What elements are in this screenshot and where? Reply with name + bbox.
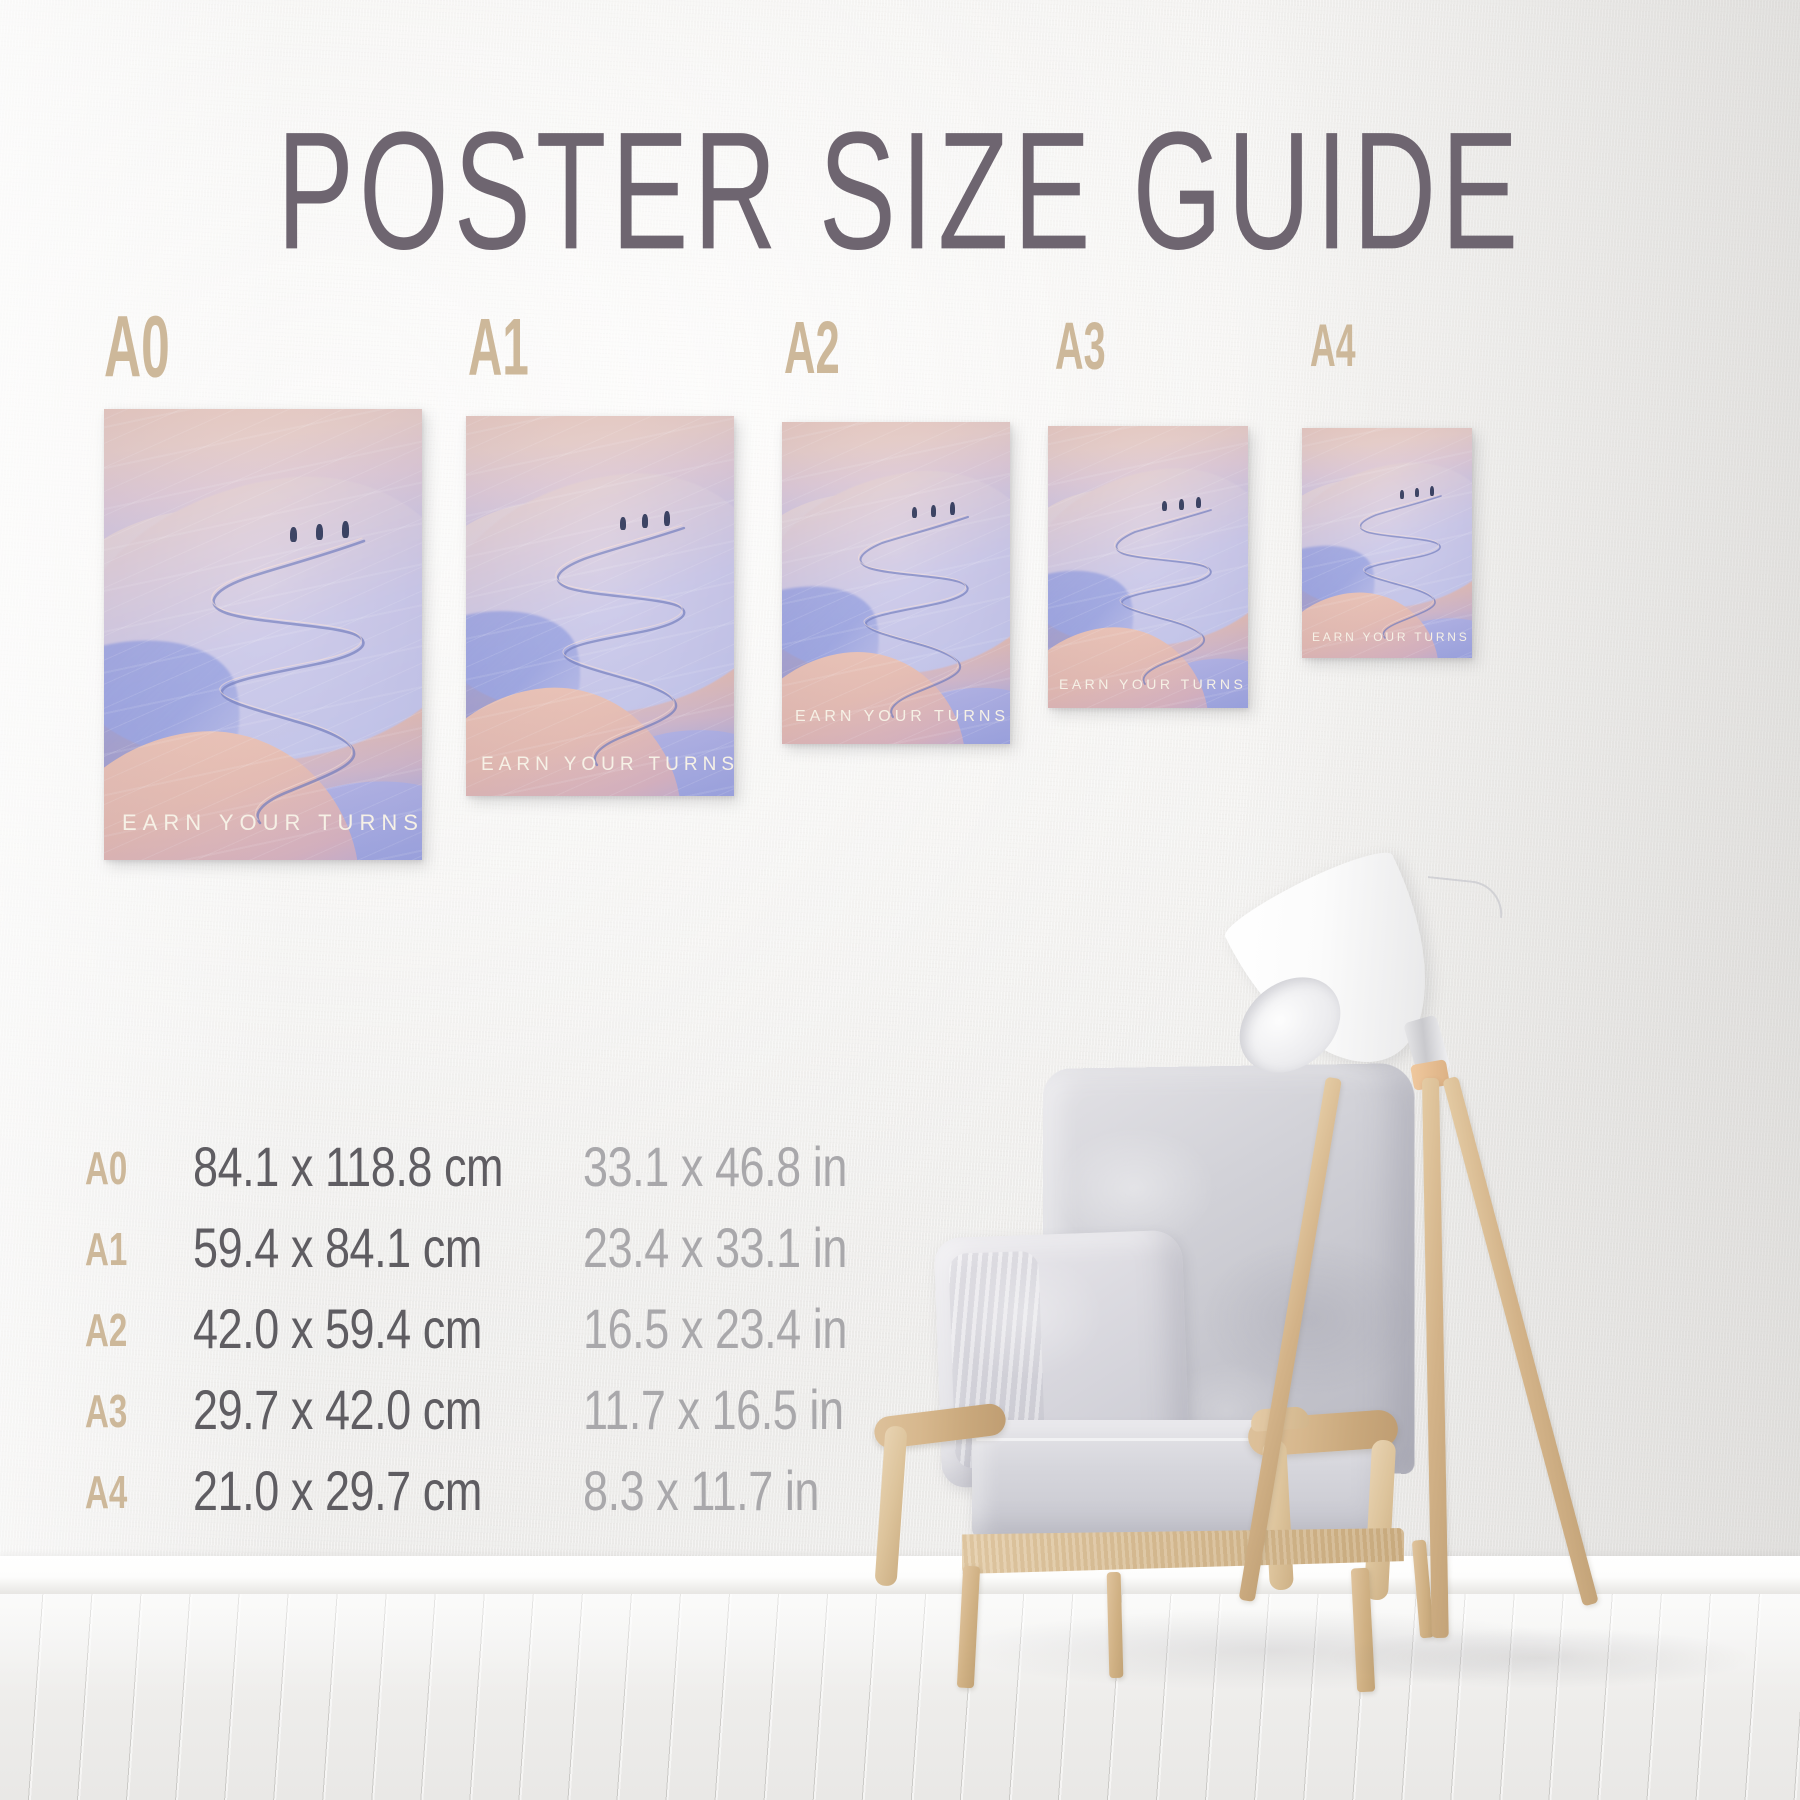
poster-artwork-a4 <box>1302 428 1472 658</box>
artwork-vignette <box>466 416 734 796</box>
poster-a1[interactable]: EARN YOUR TURNS <box>466 416 734 796</box>
size-in: 8.3 x 11.7 in <box>583 1459 907 1524</box>
table-row: A3 29.7 x 42.0 cm 11.7 x 16.5 in <box>85 1381 985 1462</box>
armchair-leg-mid <box>1107 1572 1124 1678</box>
poster-artwork-a3 <box>1048 426 1248 708</box>
poster-caption-a2: EARN YOUR TURNS <box>782 708 1010 744</box>
table-row: A0 84.1 x 118.8 cm 33.1 x 46.8 in <box>85 1138 985 1219</box>
floor-lamp <box>1230 872 1700 1680</box>
poster-caption-a1: EARN YOUR TURNS <box>466 754 734 796</box>
poster-a3[interactable]: EARN YOUR TURNS <box>1048 426 1248 708</box>
poster-label-a3: A3 <box>1055 313 1106 380</box>
table-row: A4 21.0 x 29.7 cm 8.3 x 11.7 in <box>85 1462 985 1543</box>
lamp-cord <box>1424 876 1505 918</box>
size-in: 23.4 x 33.1 in <box>583 1216 907 1281</box>
size-in: 33.1 x 46.8 in <box>583 1135 907 1200</box>
poster-artwork-a2 <box>782 422 1010 744</box>
lamp-tripod-leg-right <box>1442 1076 1599 1607</box>
poster-a4[interactable]: EARN YOUR TURNS <box>1302 428 1472 658</box>
poster-a2[interactable]: EARN YOUR TURNS <box>782 422 1010 744</box>
poster-artwork-a1 <box>466 416 734 796</box>
size-code: A3 <box>85 1384 163 1438</box>
artwork-vignette <box>1302 428 1472 658</box>
poster-label-a0: A0 <box>104 303 170 390</box>
poster-caption-a4: EARN YOUR TURNS <box>1302 630 1472 658</box>
lamp-tripod-leg-center <box>1422 1078 1449 1638</box>
poster-label-a1: A1 <box>468 307 529 388</box>
poster-a0[interactable]: EARN YOUR TURNS <box>104 409 422 860</box>
poster-caption-a3: EARN YOUR TURNS <box>1048 676 1248 708</box>
size-in: 16.5 x 23.4 in <box>583 1297 907 1362</box>
lamp-tripod-leg-left <box>1239 1077 1342 1602</box>
poster-artwork-a0 <box>104 409 422 860</box>
poster-caption-a0: EARN YOUR TURNS <box>104 810 422 860</box>
size-table: A0 84.1 x 118.8 cm 33.1 x 46.8 in A1 59.… <box>85 1138 985 1543</box>
size-code: A1 <box>85 1222 163 1276</box>
artwork-vignette <box>782 422 1010 744</box>
size-cm: 59.4 x 84.1 cm <box>193 1216 544 1281</box>
artwork-vignette <box>104 409 422 860</box>
poster-size-comparison-row: A0 <box>0 0 1800 1000</box>
table-row: A2 42.0 x 59.4 cm 16.5 x 23.4 in <box>85 1300 985 1381</box>
size-code: A0 <box>85 1141 163 1195</box>
size-code: A2 <box>85 1303 163 1357</box>
poster-label-a2: A2 <box>784 310 840 384</box>
size-cm: 21.0 x 29.7 cm <box>193 1459 544 1524</box>
poster-label-a4: A4 <box>1310 316 1356 376</box>
artwork-vignette <box>1048 426 1248 708</box>
size-code: A4 <box>85 1465 163 1519</box>
size-cm: 29.7 x 42.0 cm <box>193 1378 544 1443</box>
size-in: 11.7 x 16.5 in <box>583 1378 907 1443</box>
size-cm: 42.0 x 59.4 cm <box>193 1297 544 1362</box>
size-cm: 84.1 x 118.8 cm <box>193 1135 544 1200</box>
table-row: A1 59.4 x 84.1 cm 23.4 x 33.1 in <box>85 1219 985 1300</box>
